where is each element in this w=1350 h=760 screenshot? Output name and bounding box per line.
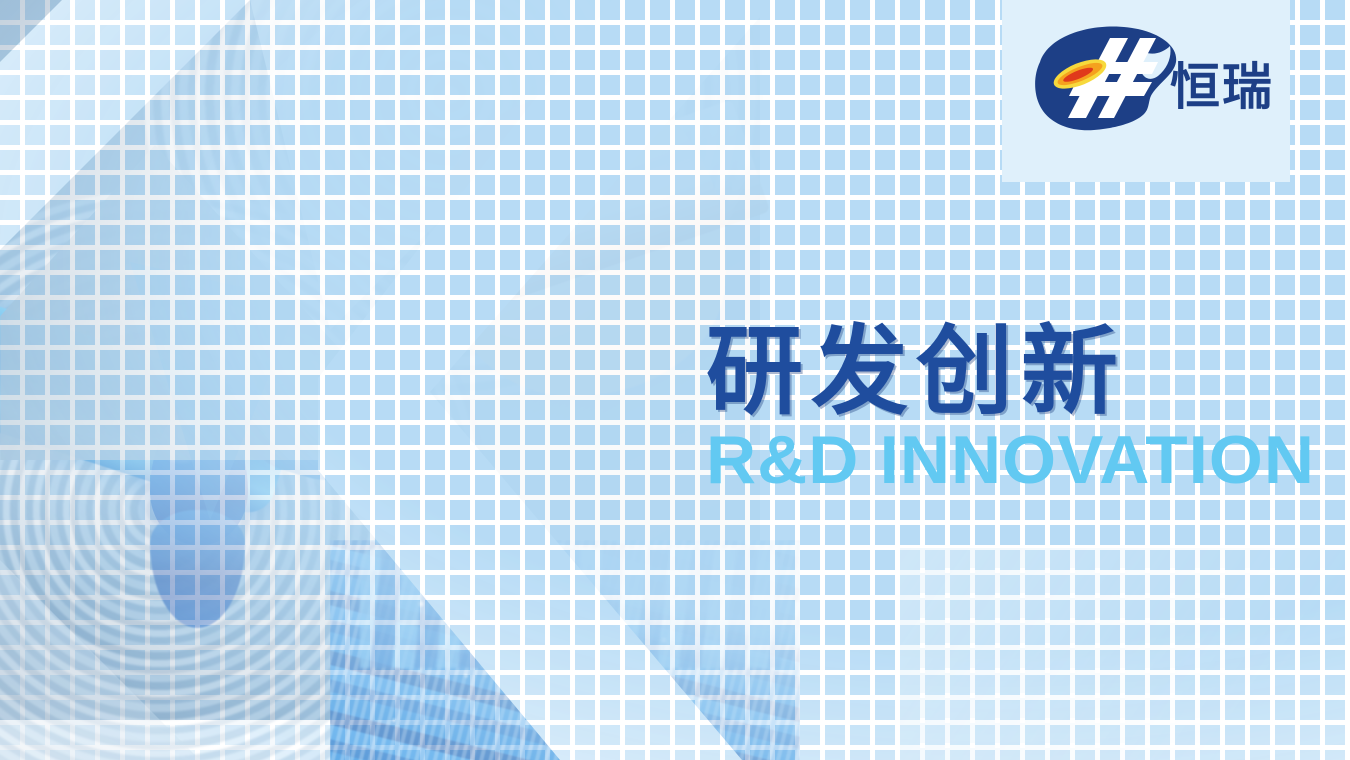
page-title-chinese: 研发创新 xyxy=(706,323,1306,420)
logo-panel[interactable]: 恒瑞 xyxy=(1002,0,1290,182)
headline-block: 研发创新 R&D INNOVATION xyxy=(706,323,1306,494)
hengrui-lens-logo-icon xyxy=(1032,22,1182,140)
blue-checker-grid-tail xyxy=(900,548,1350,760)
rd-innovation-banner: 研发创新 R&D INNOVATION xyxy=(0,0,1350,760)
brand-name-chinese: 恒瑞 xyxy=(1170,62,1274,112)
page-title-english: R&D INNOVATION xyxy=(706,426,1318,494)
